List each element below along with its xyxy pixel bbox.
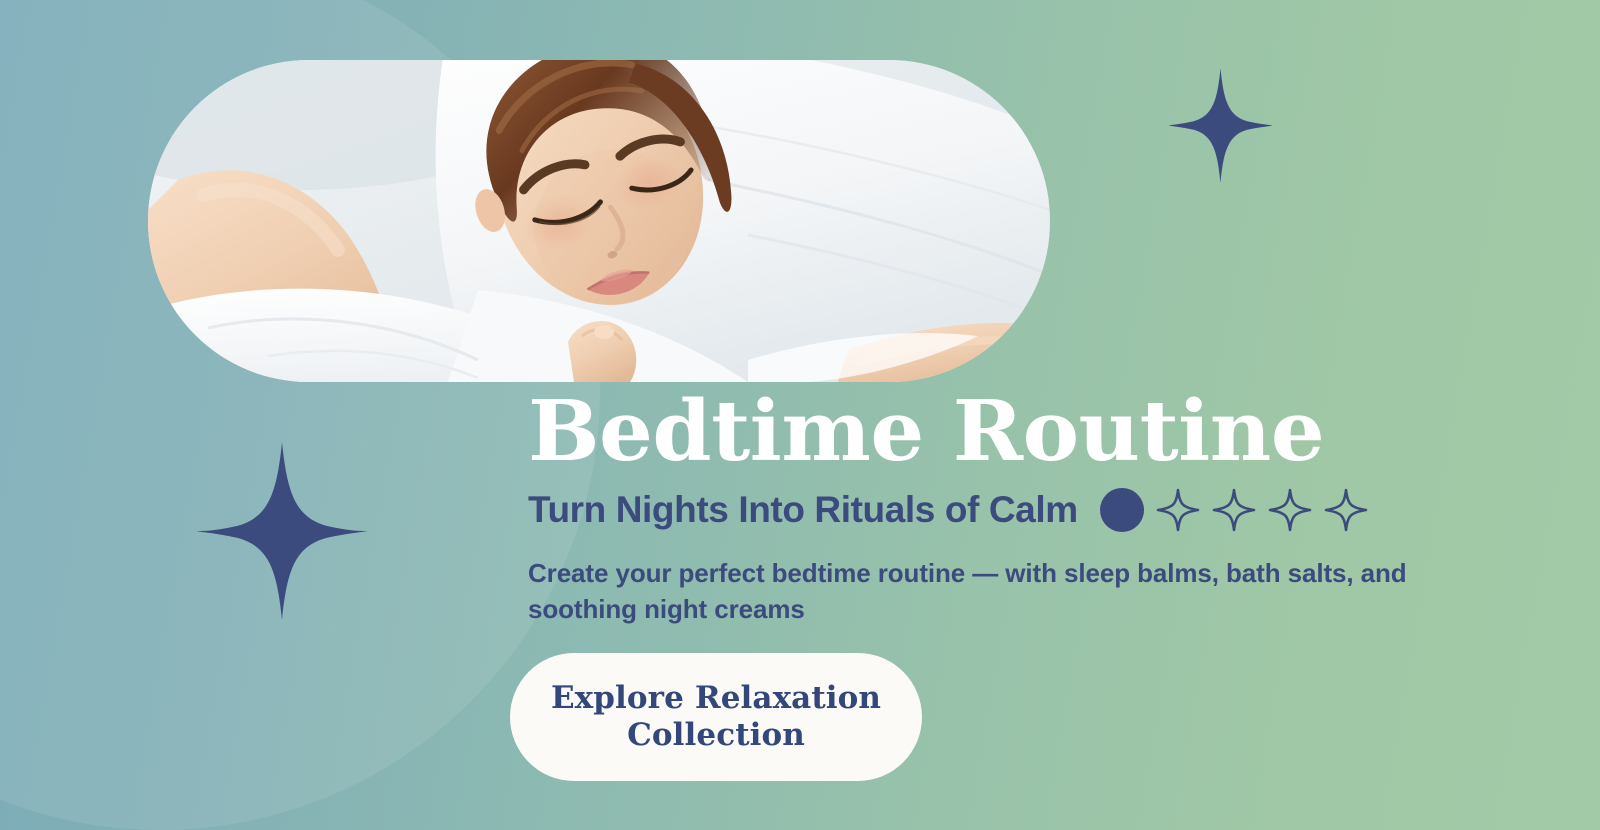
page-title: Bedtime Routine (528, 392, 1568, 472)
rating-indicator (1100, 488, 1368, 532)
banner-content: Bedtime Routine Turn Nights Into Rituals… (528, 392, 1548, 781)
bedtime-routine-banner: Bedtime Routine Turn Nights Into Rituals… (0, 0, 1600, 830)
subheadline: Turn Nights Into Rituals of Calm (528, 489, 1078, 531)
four-point-star-outline-icon-2 (1212, 488, 1256, 532)
sleeping-woman-photo (148, 60, 1050, 382)
filled-circle-icon (1100, 488, 1144, 532)
subheadline-row: Turn Nights Into Rituals of Calm (528, 488, 1548, 532)
four-point-star-outline-icon-1 (1156, 488, 1200, 532)
four-point-star-filled-icon-top-right (1168, 68, 1273, 183)
body-copy: Create your perfect bedtime routine — wi… (528, 556, 1428, 628)
four-point-star-outline-icon-3 (1268, 488, 1312, 532)
cta-wrapper: Explore Relaxation Collection (510, 653, 1548, 781)
four-point-star-filled-icon-bottom-left (196, 442, 368, 620)
explore-relaxation-collection-button[interactable]: Explore Relaxation Collection (510, 653, 922, 781)
four-point-star-outline-icon-4 (1324, 488, 1368, 532)
